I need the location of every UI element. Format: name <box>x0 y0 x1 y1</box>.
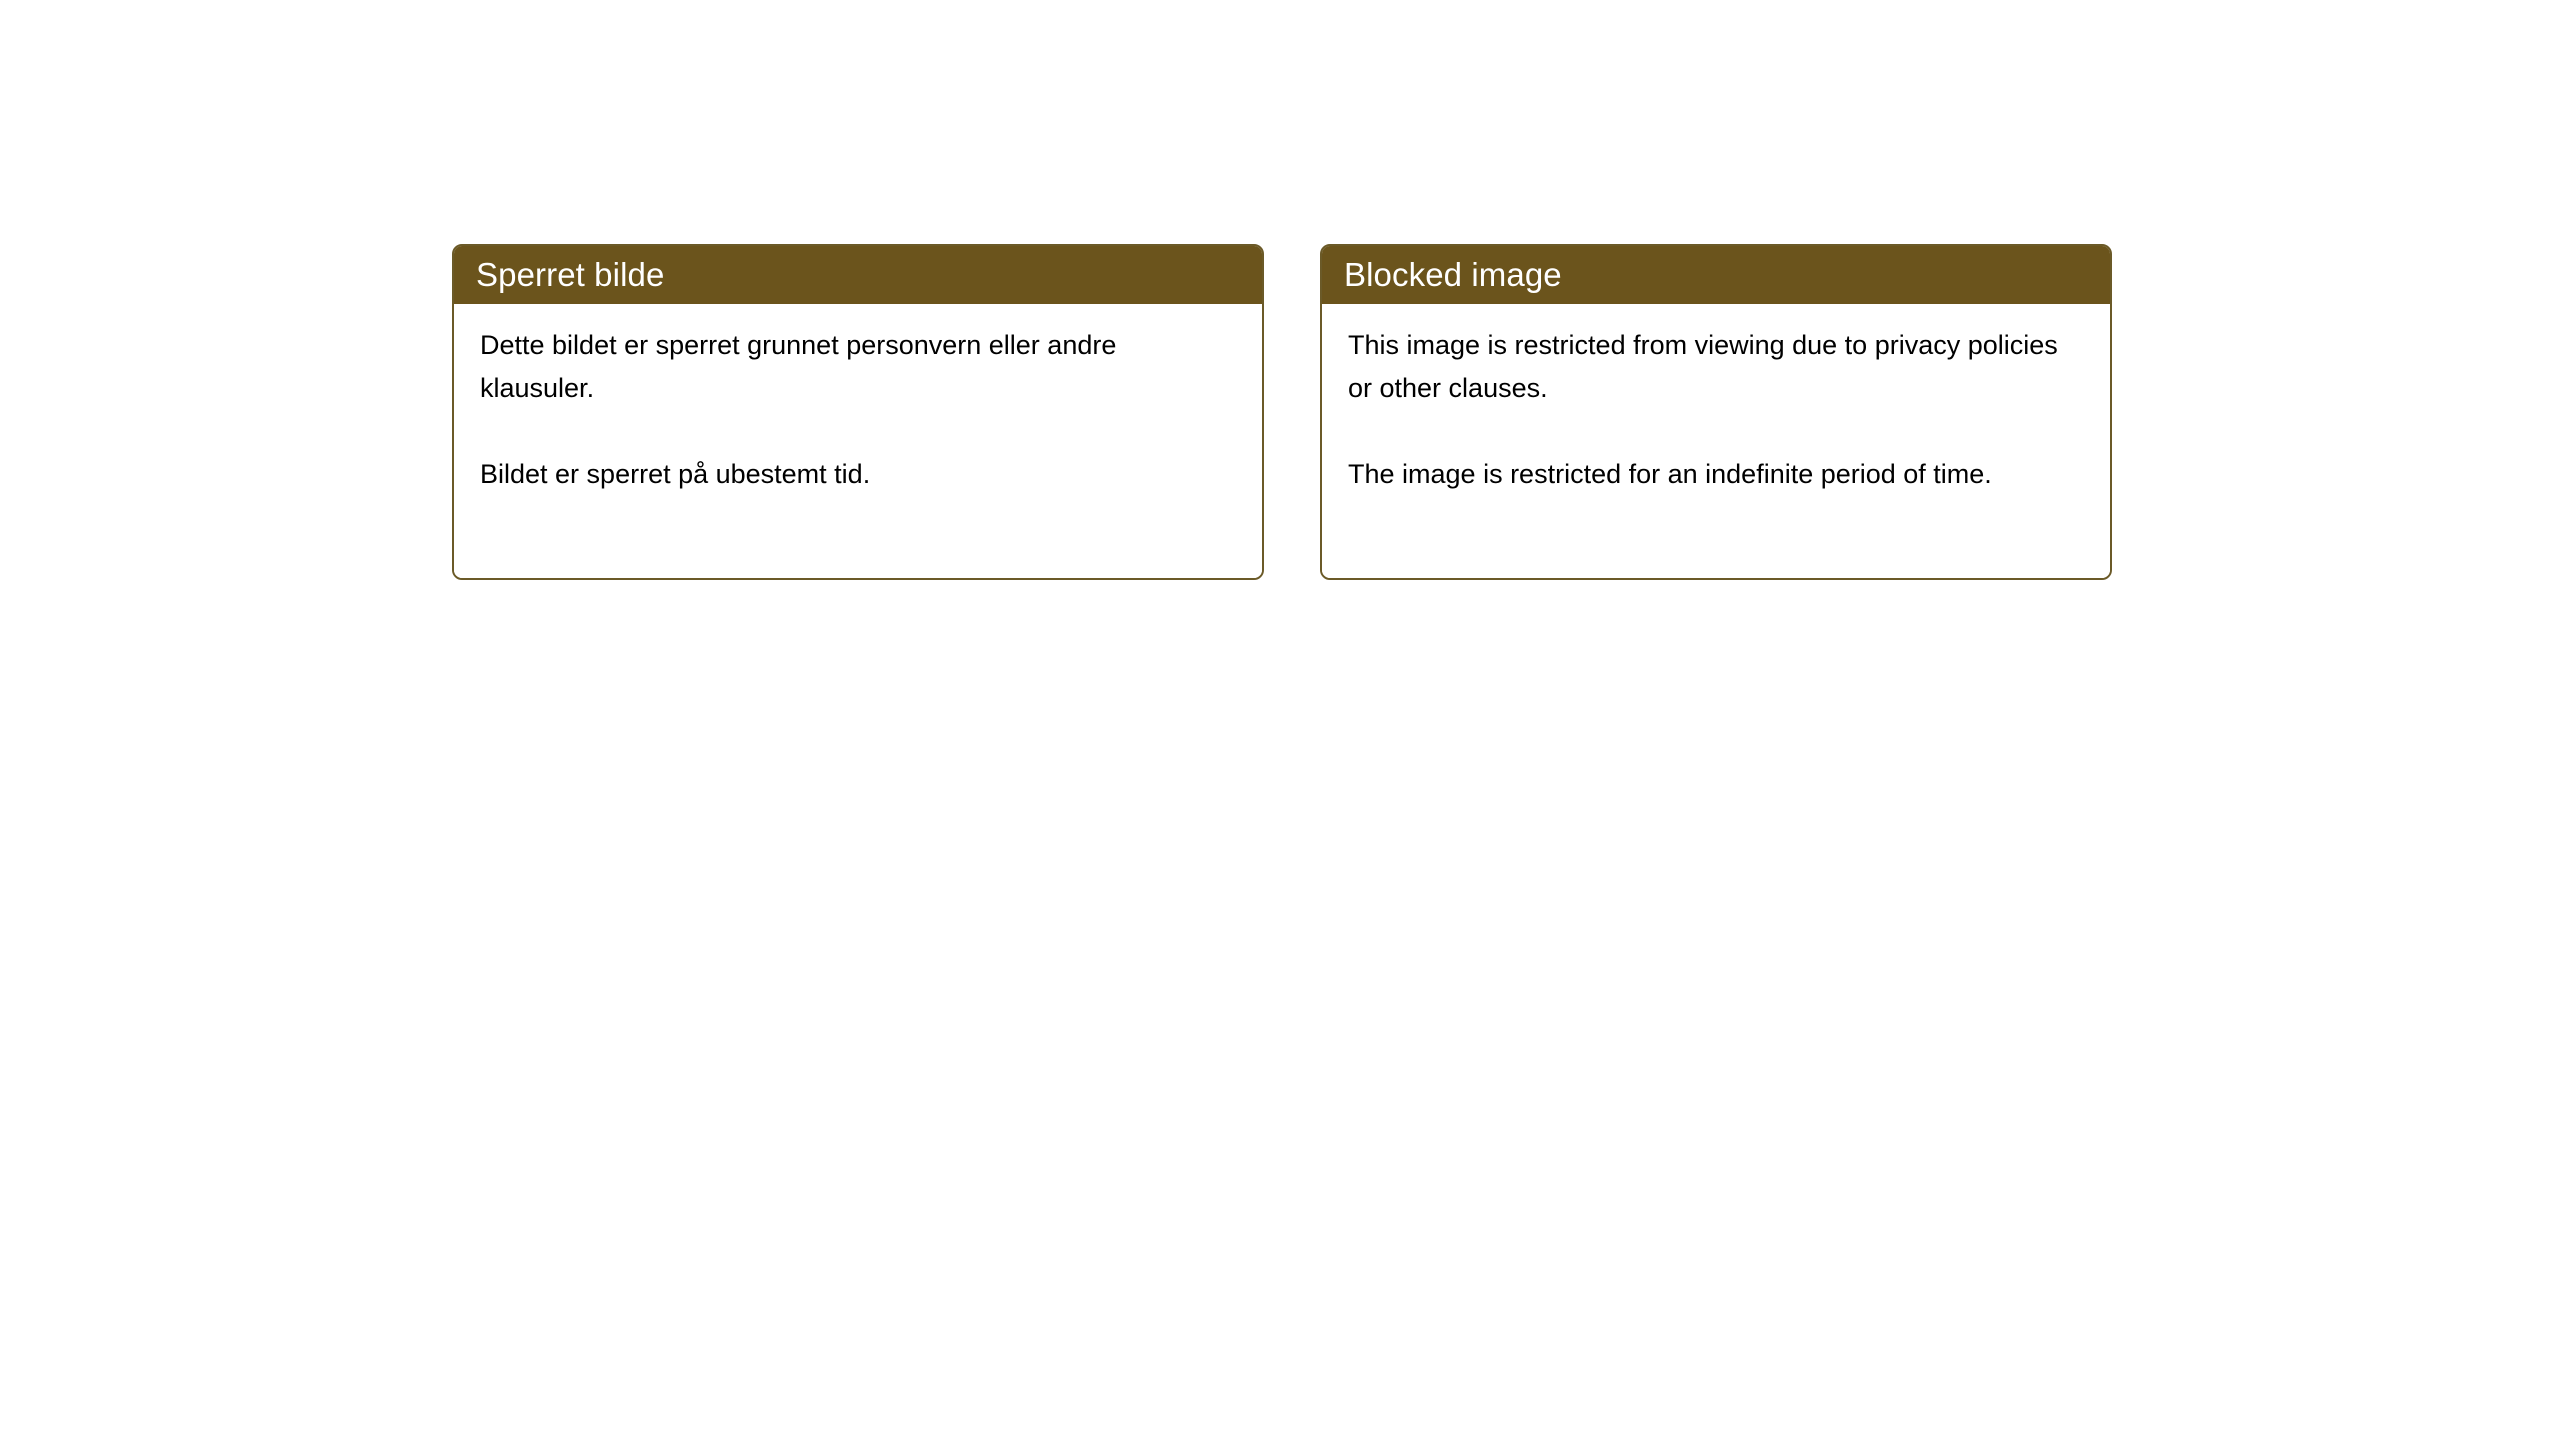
card-body-english: This image is restricted from viewing du… <box>1322 304 2110 578</box>
card-paragraph-primary-english: This image is restricted from viewing du… <box>1348 324 2084 410</box>
card-paragraph-primary-norwegian: Dette bildet er sperret grunnet personve… <box>480 324 1236 410</box>
card-paragraph-secondary-norwegian: Bildet er sperret på ubestemt tid. <box>480 453 1236 496</box>
card-paragraph-secondary-english: The image is restricted for an indefinit… <box>1348 453 2084 496</box>
card-header-english: Blocked image <box>1322 246 2110 304</box>
card-body-norwegian: Dette bildet er sperret grunnet personve… <box>454 304 1262 578</box>
paragraph-spacer <box>480 410 1236 453</box>
card-title-norwegian: Sperret bilde <box>476 256 664 294</box>
card-title-english: Blocked image <box>1344 256 1562 294</box>
blocked-image-notice-card-norwegian: Sperret bilde Dette bildet er sperret gr… <box>452 244 1264 580</box>
card-header-norwegian: Sperret bilde <box>454 246 1262 304</box>
page-canvas: Sperret bilde Dette bildet er sperret gr… <box>0 0 2560 1440</box>
paragraph-spacer <box>1348 410 2084 453</box>
blocked-image-notice-card-english: Blocked image This image is restricted f… <box>1320 244 2112 580</box>
